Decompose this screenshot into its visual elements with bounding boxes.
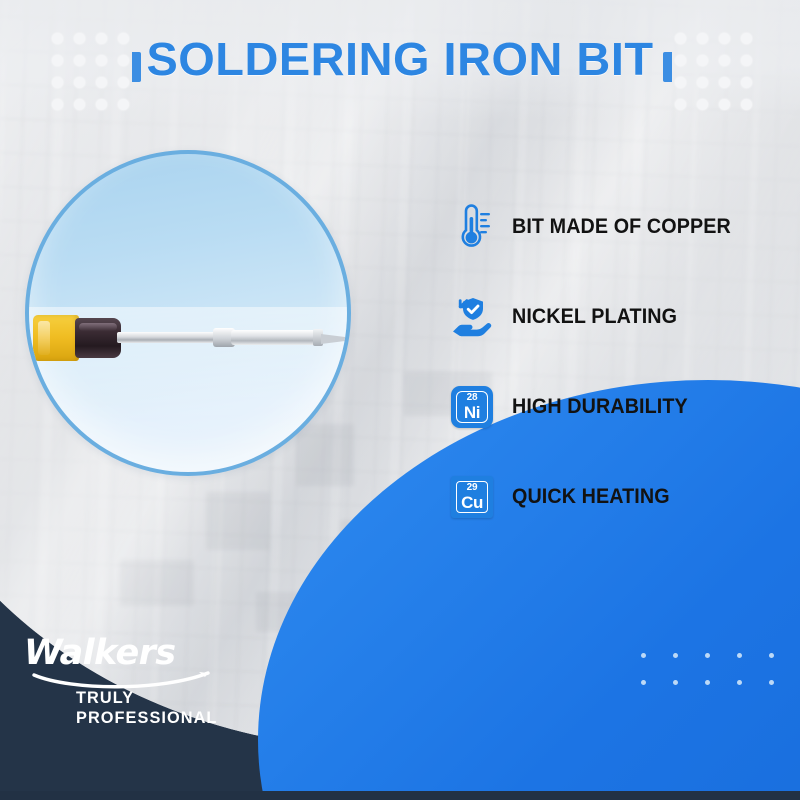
brand-tagline: TRULY PROFESSIONAL (76, 688, 276, 728)
element-tile-nickel-icon: 28 Ni (448, 381, 496, 433)
header: SOLDERING IRON BIT (0, 0, 800, 120)
product-infographic: SOLDERING IRON BIT (0, 0, 800, 800)
feature-label: HIGH DURABILITY (512, 395, 688, 419)
feature-list: BIT MADE OF COPPER NICKEL PLATING 28 (448, 196, 768, 528)
element-tile: 28 Ni (451, 386, 493, 428)
shaft-barrel (231, 330, 323, 345)
feature-label: BIT MADE OF COPPER (512, 215, 731, 239)
chrome-shaft (117, 332, 223, 343)
brand-logo: Walkers TRULY PROFESSIONAL (24, 635, 284, 728)
element-symbol: Cu (461, 494, 483, 511)
brand-name: Walkers (24, 635, 176, 671)
element-number: 29 (467, 483, 478, 493)
feature-label: QUICK HEATING (512, 485, 670, 509)
feature-label: NICKEL PLATING (512, 305, 677, 329)
dark-ferrule (75, 318, 121, 358)
feature-item: 29 Cu QUICK HEATING (448, 466, 768, 528)
soldering-iron-bit-illustration (25, 306, 351, 368)
thermometer-icon (448, 201, 496, 253)
feature-item: BIT MADE OF COPPER (448, 196, 768, 258)
decor-dots-right (675, 33, 752, 110)
decor-dots-bottom-right (641, 653, 774, 685)
hand-shield-check-icon (448, 291, 496, 343)
element-tile-inner: 29 Cu (456, 481, 488, 513)
element-tile-copper-icon: 29 Cu (448, 471, 496, 523)
feature-item: NICKEL PLATING (448, 286, 768, 348)
tapered-tip (321, 334, 351, 344)
element-symbol: Ni (464, 404, 480, 421)
bottom-strip (0, 791, 800, 800)
element-tile-inner: 28 Ni (456, 391, 488, 423)
feature-item: 28 Ni HIGH DURABILITY (448, 376, 768, 438)
element-number: 28 (467, 393, 478, 403)
element-tile: 29 Cu (451, 476, 493, 518)
yellow-connector (33, 315, 79, 361)
product-image-circle (25, 150, 351, 476)
brand-swoosh-icon (32, 671, 232, 689)
